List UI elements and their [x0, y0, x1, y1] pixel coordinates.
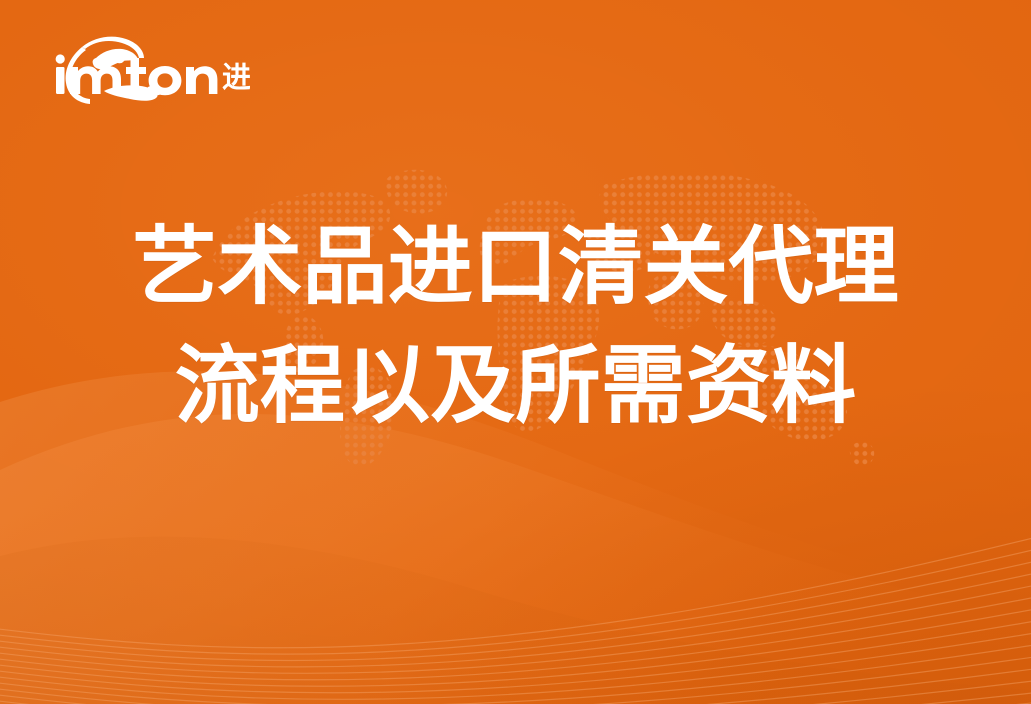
logo-chinese-text: 进贸通 — [222, 61, 250, 94]
globe-icon: 进贸通 ® — [44, 27, 250, 105]
page-title-line-1: 艺术品进口清关代理 — [0, 213, 1031, 324]
brand-logo[interactable]: 进贸通 ® — [44, 27, 250, 105]
page-title: 艺术品进口清关代理 流程以及所需资料 — [0, 213, 1031, 442]
page-title-line-2: 流程以及所需资料 — [0, 332, 1031, 443]
banner-image: 进贸通 ® 艺术品进口清关代理 流程以及所需资料 — [0, 0, 1031, 704]
